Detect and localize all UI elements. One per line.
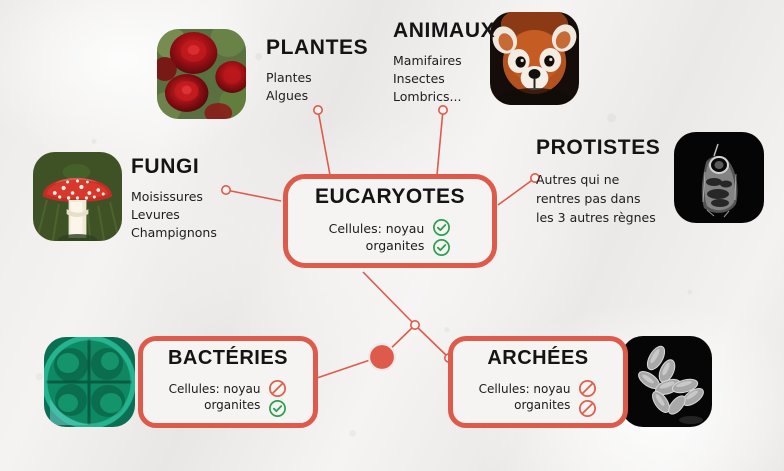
branch-animaux-title: ANIMAUX — [393, 19, 495, 43]
branch-animaux-items: Mamifaires Insectes Lombrics... — [393, 52, 495, 106]
check-circle-icon — [432, 238, 451, 257]
connector-eucaryotes-hub — [363, 272, 415, 325]
branch-fungi-item-2: Champignons — [131, 224, 217, 242]
branch-protistes-title: PROTISTES — [536, 136, 660, 160]
connector-animaux — [437, 110, 443, 175]
branch-protistes-item-0: Autres qui ne — [536, 171, 660, 190]
node-eucaryotes[interactable]: EUCARYOTES Cellules: noyau organites — [283, 174, 497, 268]
protist-micrograph — [674, 132, 764, 223]
branch-protistes-item-2: les 3 autres règnes — [536, 209, 660, 228]
node-eucaryotes-attributes: Cellules: noyau organites — [329, 218, 452, 257]
node-eucaryotes-attribute-1: organites — [329, 238, 425, 254]
node-eucaryotes-title: EUCARYOTES — [315, 185, 465, 209]
node-bacteries-attributes: Cellules: noyau organites — [169, 379, 288, 418]
node-archees-attribute-0: Cellules: noyau — [479, 382, 571, 398]
node-archees-title: ARCHÉES — [487, 347, 588, 370]
node-archees-attribute-1: organites — [479, 398, 571, 414]
connector-hub-bacteries — [311, 360, 370, 380]
connector-hub-archees — [415, 325, 449, 358]
center-hub-node — [369, 344, 395, 370]
connector-fungi — [226, 190, 281, 201]
connector-endpoint-animaux — [439, 106, 447, 114]
branch-plantes-item-0: Plantes — [266, 69, 368, 87]
node-eucaryotes-attribute-0: Cellules: noyau — [329, 221, 425, 237]
branch-animaux-item-0: Mamifaires — [393, 52, 495, 70]
node-eucaryotes-attribute-labels: Cellules: noyau organites — [329, 221, 425, 254]
branch-fungi-item-0: Moisissures — [131, 188, 217, 206]
check-circle-icon — [268, 399, 287, 418]
ban-circle-icon — [268, 379, 287, 398]
mushroom-photo — [33, 152, 122, 241]
connector-endpoint-fungi — [222, 186, 230, 194]
branch-plantes-title: PLANTES — [266, 36, 368, 60]
node-bacteries[interactable]: BACTÉRIES Cellules: noyau organites — [138, 336, 318, 428]
bacteria-micrograph-green — [44, 337, 135, 427]
node-archees[interactable]: ARCHÉES Cellules: noyau organites — [448, 336, 628, 428]
branch-protistes-items: Autres qui ne rentres pas dans les 3 aut… — [536, 171, 660, 227]
ban-circle-icon — [578, 399, 597, 418]
branch-plantes: PLANTES Plantes Algues — [266, 36, 368, 105]
roses-photo — [157, 29, 246, 119]
node-bacteries-attribute-0: Cellules: noyau — [169, 382, 261, 398]
branch-protistes: PROTISTES Autres qui ne rentres pas dans… — [536, 136, 660, 227]
branch-fungi-item-1: Levures — [131, 206, 217, 224]
node-archees-attribute-labels: Cellules: noyau organites — [479, 382, 571, 413]
node-bacteries-status-icons — [268, 379, 287, 418]
branch-fungi-title: FUNGI — [131, 155, 217, 179]
ban-circle-icon — [578, 379, 597, 398]
branch-plantes-item-1: Algues — [266, 87, 368, 105]
connector-endpoint-plantes — [314, 106, 322, 114]
branch-animaux: ANIMAUX Mamifaires Insectes Lombrics... — [393, 19, 495, 106]
node-bacteries-title: BACTÉRIES — [168, 347, 288, 370]
node-bacteries-attribute-labels: Cellules: noyau organites — [169, 382, 261, 413]
branch-animaux-item-1: Insectes — [393, 70, 495, 88]
connector-endpoint-junction — [411, 321, 419, 329]
node-archees-status-icons — [578, 379, 597, 418]
connector-hub-junction — [382, 325, 415, 357]
archaea-micrograph-grey — [621, 336, 712, 427]
node-archees-attributes: Cellules: noyau organites — [479, 379, 598, 418]
branch-fungi-items: Moisissures Levures Champignons — [131, 188, 217, 242]
node-eucaryotes-status-icons — [432, 218, 451, 257]
branch-protistes-item-1: rentres pas dans — [536, 190, 660, 209]
branch-animaux-item-2: Lombrics... — [393, 88, 495, 106]
branch-plantes-items: Plantes Algues — [266, 69, 368, 105]
check-circle-icon — [432, 218, 451, 237]
node-bacteries-attribute-1: organites — [169, 398, 261, 414]
branch-fungi: FUNGI Moisissures Levures Champignons — [131, 155, 217, 242]
red-panda-photo — [490, 12, 579, 105]
connector-plantes — [318, 110, 330, 175]
connector-protistes — [498, 178, 535, 205]
mindmap-canvas: FUNGI Moisissures Levures Champignons PL… — [0, 0, 784, 471]
